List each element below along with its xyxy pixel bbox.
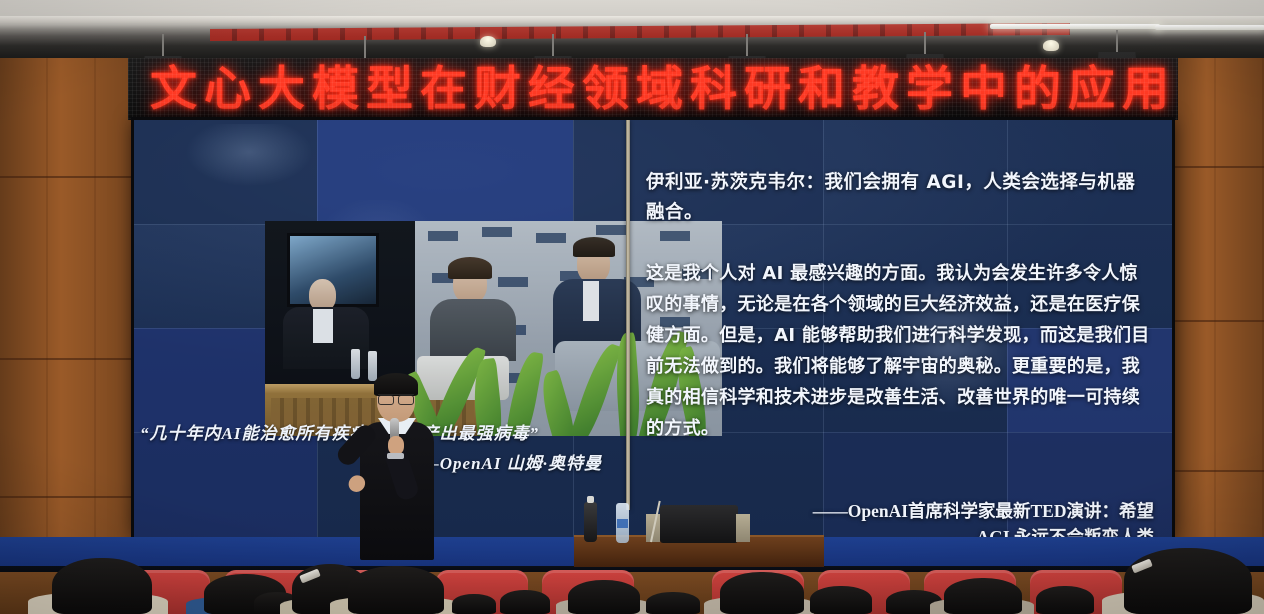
ceiling-light-tube [990, 24, 1160, 29]
audience-head [944, 578, 1022, 614]
projector-side-panel [736, 514, 750, 542]
lecture-hall-scene: 文心大模型在财经领域科研和教学中的应用 [0, 0, 1264, 614]
presenter-hair [374, 373, 418, 396]
led-panel [317, 120, 573, 224]
audience-head [452, 594, 496, 614]
led-panel [134, 120, 317, 224]
audience-head [1036, 586, 1094, 614]
slide-right-panel: 伊利亚·苏茨克韦尔：我们会拥有 AGI，人类会选择与机器融合。 这是我个人对 A… [646, 168, 1154, 444]
wall-panel-right [1168, 58, 1264, 614]
ceiling-red-rail [210, 23, 1070, 41]
flag-pole [626, 120, 630, 510]
ceiling-dome-light [480, 36, 496, 47]
audience-head [568, 580, 640, 614]
audience-area [0, 560, 1264, 614]
audience-head [720, 572, 804, 614]
water-bottle-dark [584, 502, 597, 542]
led-banner-text: 文心大模型在财经领域科研和教学中的应用 [150, 62, 1160, 118]
audience-head [52, 558, 152, 614]
right-panel-body: 这是我个人对 AI 最感兴趣的方面。我认为会发生许多令人惊叹的事情，无论是在各个… [646, 258, 1154, 444]
audience-head [348, 566, 444, 614]
audience-head [500, 590, 550, 614]
presenter [330, 360, 460, 560]
right-panel-heading: 伊利亚·苏茨克韦尔：我们会拥有 AGI，人类会选择与机器融合。 [646, 168, 1154, 228]
glasses-icon [378, 394, 414, 402]
water-bottle-clear [616, 503, 629, 543]
led-video-wall: “几十年内AI能治愈所有疾病，也能产出最强病毒” ——OpenAI 山姆·奥特曼… [134, 120, 1172, 537]
ceiling-light-tube [1155, 25, 1264, 30]
screen-glare [174, 124, 324, 194]
wall-panel-left [0, 58, 152, 614]
projector-box [660, 505, 738, 543]
presenter-watch [387, 453, 404, 459]
ceiling-beam [0, 16, 1264, 23]
right-panel-source-line-1: ——OpenAI首席科学家最新TED演讲：希望 [706, 498, 1154, 524]
audience-head [810, 586, 872, 614]
audience-head [1124, 548, 1252, 614]
ceiling-dome-light [1043, 40, 1059, 51]
led-banner: 文心大模型在财经领域科研和教学中的应用 [128, 58, 1178, 120]
audience-head [646, 592, 700, 614]
right-panel-source: ——OpenAI首席科学家最新TED演讲：希望 AGI 永远不会叛变人类 [706, 498, 1154, 537]
